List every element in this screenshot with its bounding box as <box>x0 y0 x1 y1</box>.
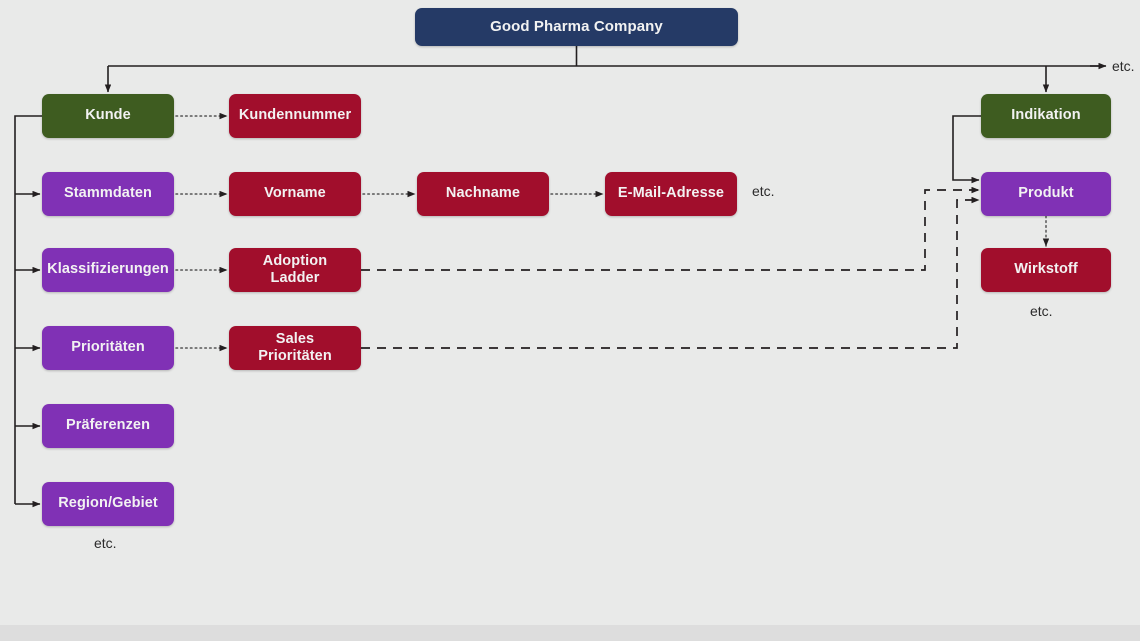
node-root-label: Good Pharma Company <box>490 18 663 36</box>
node-klassif-label: Klassifizierungen <box>47 261 169 278</box>
node-prioritaeten[interactable]: Prioritäten <box>42 326 174 370</box>
node-wirkstoff-label: Wirkstoff <box>1014 261 1078 278</box>
node-produkt[interactable]: Produkt <box>981 172 1111 216</box>
node-klassif[interactable]: Klassifizierungen <box>42 248 174 292</box>
node-nachname-label: Nachname <box>446 185 520 202</box>
diagram-canvas: Good Pharma CompanyKundeKundennummerStam… <box>0 0 1140 641</box>
etc-left-col: etc. <box>94 535 117 551</box>
node-indikation[interactable]: Indikation <box>981 94 1111 138</box>
etc-top-right: etc. <box>1112 58 1135 74</box>
node-region-label: Region/Gebiet <box>58 495 158 512</box>
node-indikation-label: Indikation <box>1011 107 1080 124</box>
node-praeferenzen[interactable]: Präferenzen <box>42 404 174 448</box>
node-salesprio[interactable]: Sales Prioritäten <box>229 326 361 370</box>
node-produkt-label: Produkt <box>1018 185 1073 202</box>
etc-email-row: etc. <box>752 183 775 199</box>
node-email-label: E-Mail-Adresse <box>618 185 724 202</box>
node-kundennummer-label: Kundennummer <box>239 107 351 124</box>
node-adoption[interactable]: Adoption Ladder <box>229 248 361 292</box>
node-adoption-label: Adoption Ladder <box>263 253 327 287</box>
node-salesprio-label: Sales Prioritäten <box>258 331 332 365</box>
node-vorname-label: Vorname <box>264 185 326 202</box>
node-prioritaeten-label: Prioritäten <box>71 339 145 356</box>
edge-kunde-spine <box>15 116 42 504</box>
edge-indikation-to-produkt <box>953 116 981 180</box>
node-nachname[interactable]: Nachname <box>417 172 549 216</box>
node-stammdaten-label: Stammdaten <box>64 185 152 202</box>
canvas-bottom-strip <box>0 625 1140 641</box>
node-wirkstoff[interactable]: Wirkstoff <box>981 248 1111 292</box>
node-region[interactable]: Region/Gebiet <box>42 482 174 526</box>
node-praeferenzen-label: Präferenzen <box>66 417 150 434</box>
node-kundennummer[interactable]: Kundennummer <box>229 94 361 138</box>
node-kunde-label: Kunde <box>85 107 131 124</box>
node-vorname[interactable]: Vorname <box>229 172 361 216</box>
node-stammdaten[interactable]: Stammdaten <box>42 172 174 216</box>
edge-sales-to-produkt <box>361 200 979 348</box>
node-email[interactable]: E-Mail-Adresse <box>605 172 737 216</box>
node-kunde[interactable]: Kunde <box>42 94 174 138</box>
etc-wirkstoff: etc. <box>1030 303 1053 319</box>
node-root[interactable]: Good Pharma Company <box>415 8 738 46</box>
